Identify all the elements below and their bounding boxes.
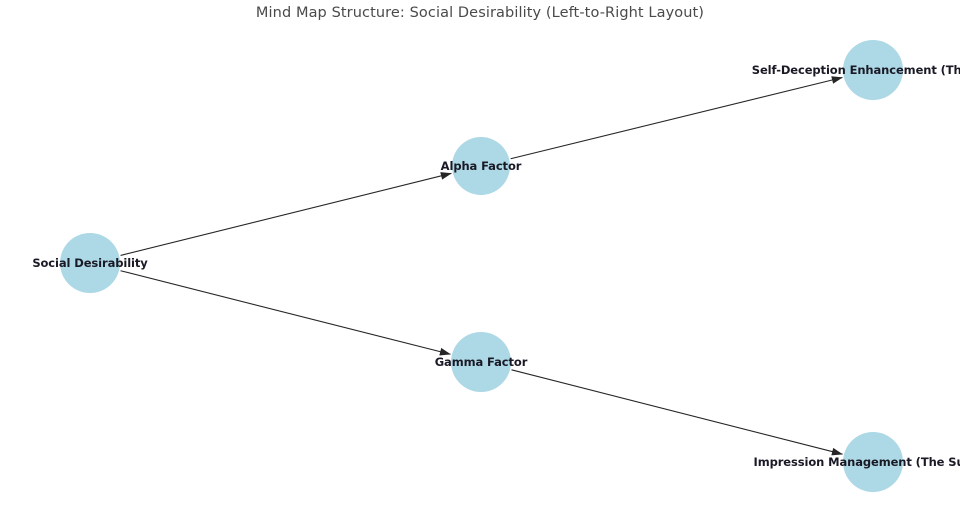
edge (121, 271, 451, 355)
node-label-social-desirability: Social Desirability (32, 256, 147, 270)
edge (121, 173, 452, 255)
mind-map-canvas: Mind Map Structure: Social Desirability … (0, 0, 960, 508)
node-label-alpha-factor: Alpha Factor (441, 159, 522, 173)
node-label-gamma-factor: Gamma Factor (435, 355, 528, 369)
edges-group (121, 77, 843, 454)
edge (512, 370, 843, 454)
node-label-impression-management: Impression Management (The Substa (754, 455, 960, 469)
edge (511, 77, 843, 158)
node-label-self-deception-enhancement: Self-Deception Enhancement (The Sty (752, 63, 960, 77)
